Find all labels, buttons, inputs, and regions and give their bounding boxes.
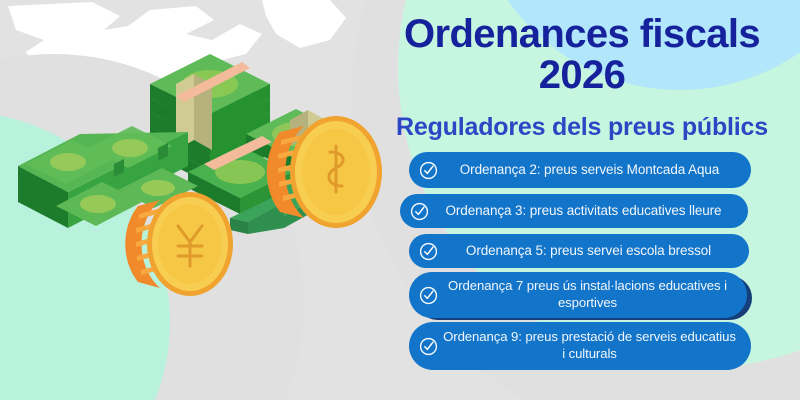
- list-item-ordenanca-5[interactable]: Ordenança 5: preus servei escola bressol: [409, 234, 749, 268]
- page-title: Ordenances fiscals 2026: [382, 14, 782, 96]
- list-item-label: Ordenança 7 preus ús instal·lacions educ…: [438, 278, 737, 312]
- list-item-ordenanca-7[interactable]: Ordenança 7 preus ús instal·lacions educ…: [409, 272, 747, 318]
- list-item-label: Ordenança 9: preus prestació de serveis …: [438, 329, 741, 363]
- poster-canvas: Ordenances fiscals 2026 Reguladores dels…: [0, 0, 800, 400]
- check-circle-icon: [410, 202, 429, 221]
- text-content: Ordenances fiscals 2026 Reguladores dels…: [382, 0, 800, 400]
- list-item-ordenanca-2[interactable]: Ordenança 2: preus serveis Montcada Aqua: [409, 152, 751, 188]
- list-item-label: Ordenança 5: preus servei escola bressol: [438, 242, 739, 259]
- list-item-label: Ordenança 2: preus serveis Montcada Aqua: [438, 161, 741, 178]
- check-circle-icon: [419, 161, 438, 180]
- list-item-label: Ordenança 3: preus activitats educatives…: [429, 202, 738, 219]
- check-circle-icon: [419, 337, 438, 356]
- list-item-ordenanca-3[interactable]: Ordenança 3: preus activitats educatives…: [400, 194, 748, 228]
- money-illustration: [10, 24, 410, 304]
- check-circle-icon: [419, 242, 438, 261]
- page-subtitle: Reguladores dels preus públics: [382, 113, 782, 142]
- page-title-year: 2026: [382, 55, 782, 96]
- check-circle-icon: [419, 286, 438, 305]
- page-title-line1: Ordenances fiscals: [404, 12, 760, 56]
- list-item-ordenanca-9[interactable]: Ordenança 9: preus prestació de serveis …: [409, 322, 751, 370]
